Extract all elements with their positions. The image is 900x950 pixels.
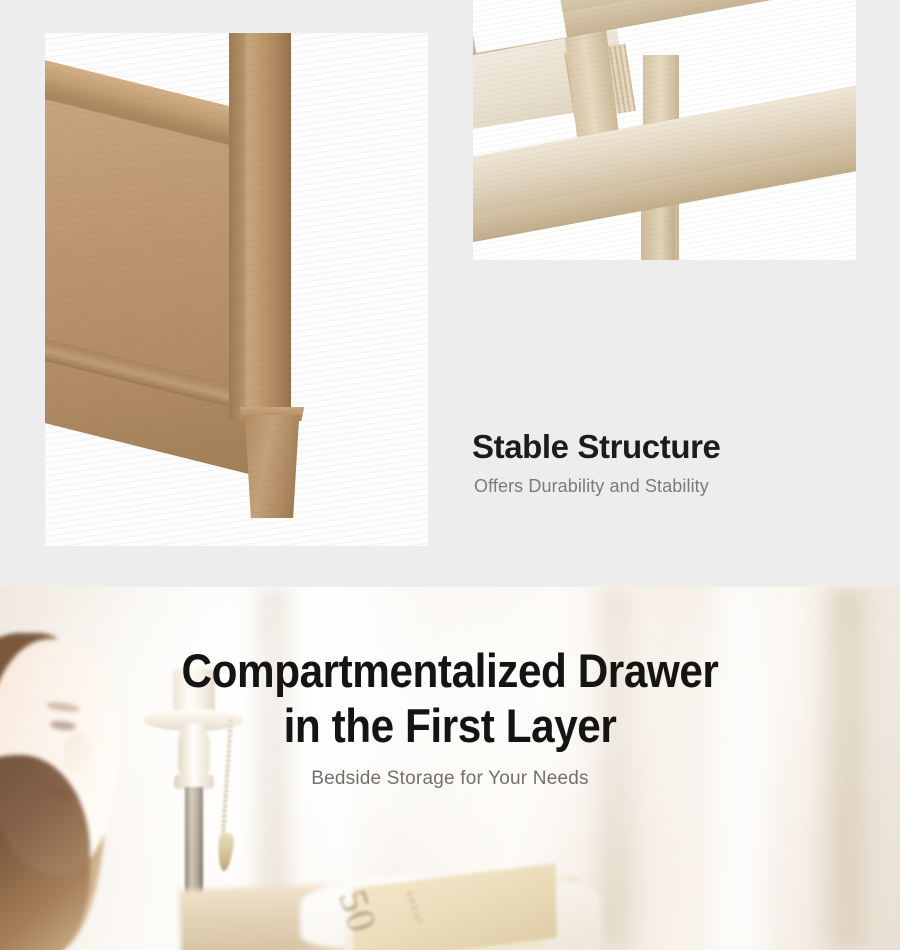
drawer-title-line-2: in the First Layer [284,699,617,752]
drawer-title: Compartmentalized Drawer in the First La… [45,643,855,754]
book: 50 GREAT [352,876,567,950]
tapered-leg [241,415,303,518]
bed-post-highlight [229,33,245,419]
lamp-pull-tassel [216,832,234,871]
drawer-title-line-1: Compartmentalized Drawer [182,644,719,697]
stable-structure-text-block: Stable Structure Offers Durability and S… [472,428,872,497]
compartmentalized-drawer-section: 50 GREAT Compartmentalized Drawer in the… [0,587,900,950]
stable-structure-subtitle: Offers Durability and Stability [474,476,872,497]
drawer-subtitle: Bedside Storage for Your Needs [0,768,900,790]
bed-frame-corner-photo [45,33,428,546]
product-detail-page: Stable Structure Offers Durability and S… [0,0,900,950]
drawer-text-block: Compartmentalized Drawer in the First La… [0,643,900,790]
wood-slat-support-photo [473,0,856,260]
stable-structure-title: Stable Structure [472,428,872,466]
stable-structure-section: Stable Structure Offers Durability and S… [0,0,900,587]
book-cover [352,863,557,950]
